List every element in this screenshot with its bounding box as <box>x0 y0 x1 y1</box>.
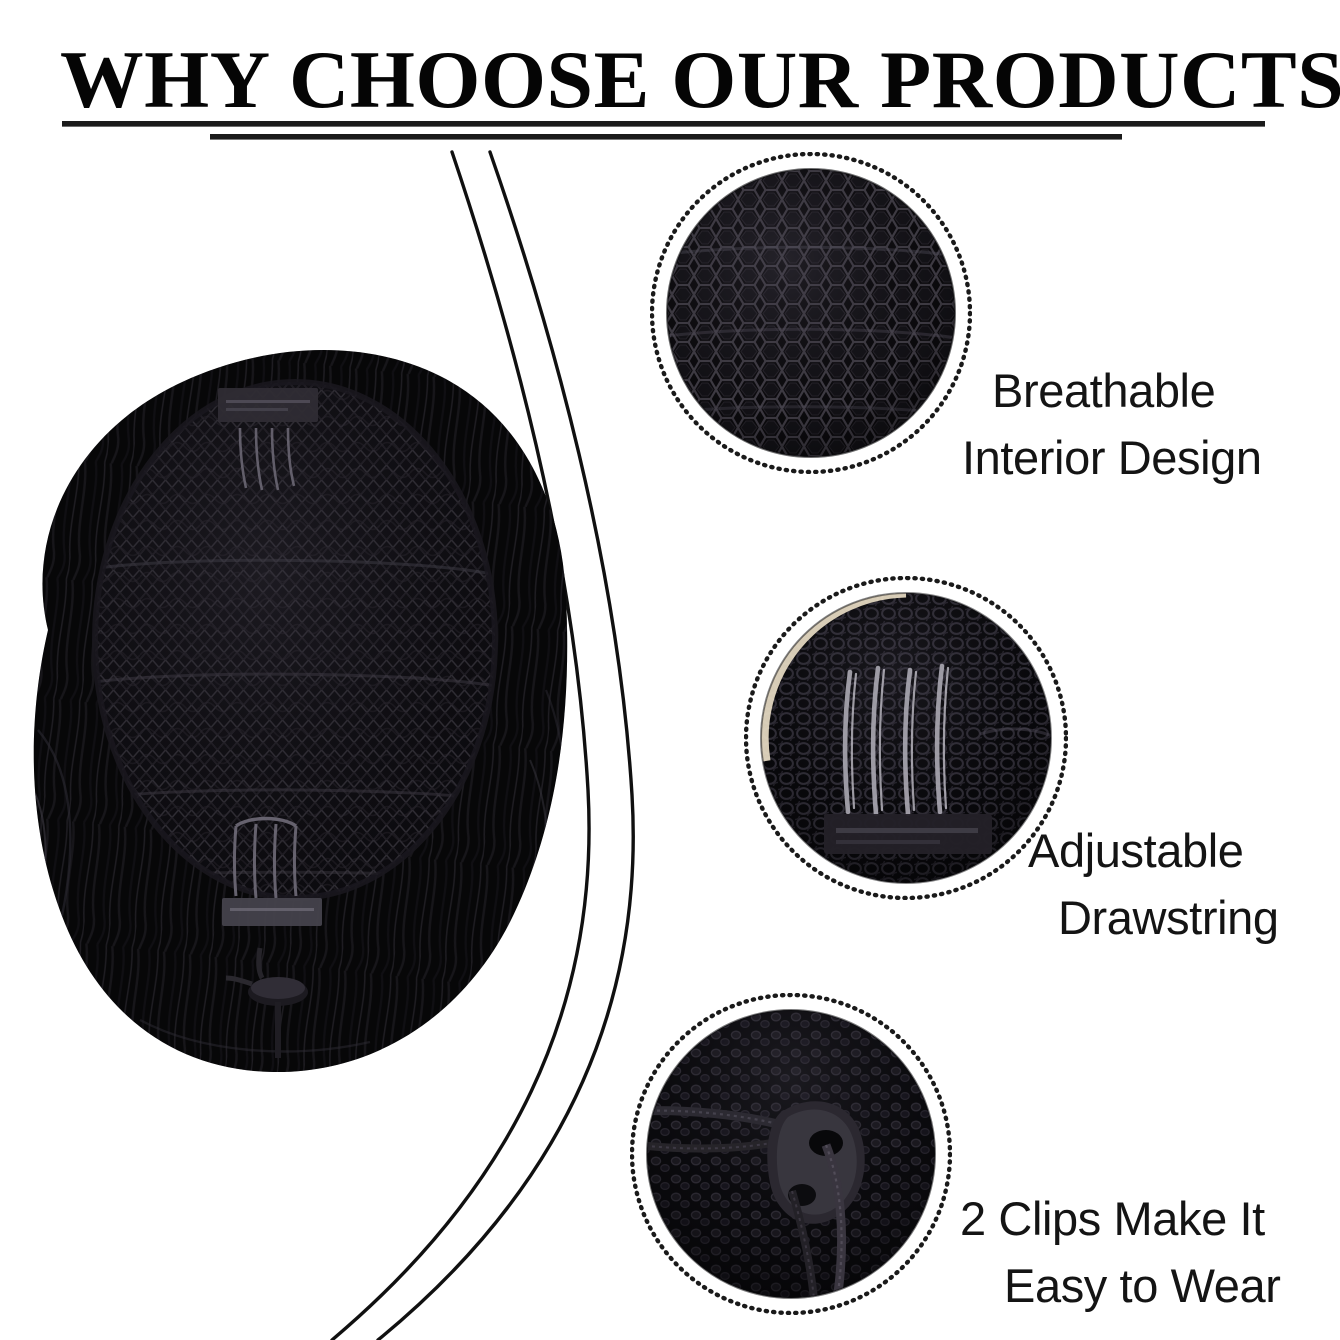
caption-line: Adjustable <box>930 818 1326 885</box>
feature-caption-drawstring: Adjustable Drawstring <box>930 818 1326 951</box>
wig-cap-interior-photo <box>0 330 600 1090</box>
caption-line: Easy to Wear <box>906 1253 1326 1320</box>
feature-caption-breathable: Breathable Interior Design <box>930 358 1326 491</box>
title-rule-upper <box>62 121 1265 127</box>
feature-caption-clips: 2 Clips Make It Easy to Wear <box>906 1186 1326 1319</box>
cord-lock-closeup <box>630 993 952 1315</box>
cap-label-tag-top <box>218 388 318 422</box>
breathable-mesh-closeup <box>650 152 972 474</box>
caption-line: Breathable <box>930 358 1326 425</box>
infographic-canvas: WHY CHOOSE OUR PRODUCTS <box>0 0 1340 1340</box>
caption-line: Drawstring <box>930 885 1326 952</box>
title-rule-lower <box>210 134 1122 140</box>
feature-circle-clips <box>630 993 952 1315</box>
cap-label-tag-bottom <box>222 898 322 926</box>
caption-line: 2 Clips Make It <box>906 1186 1326 1253</box>
caption-line: Interior Design <box>930 425 1326 492</box>
page-title: WHY CHOOSE OUR PRODUCTS <box>60 44 1294 116</box>
feature-circle-breathable <box>650 152 972 474</box>
